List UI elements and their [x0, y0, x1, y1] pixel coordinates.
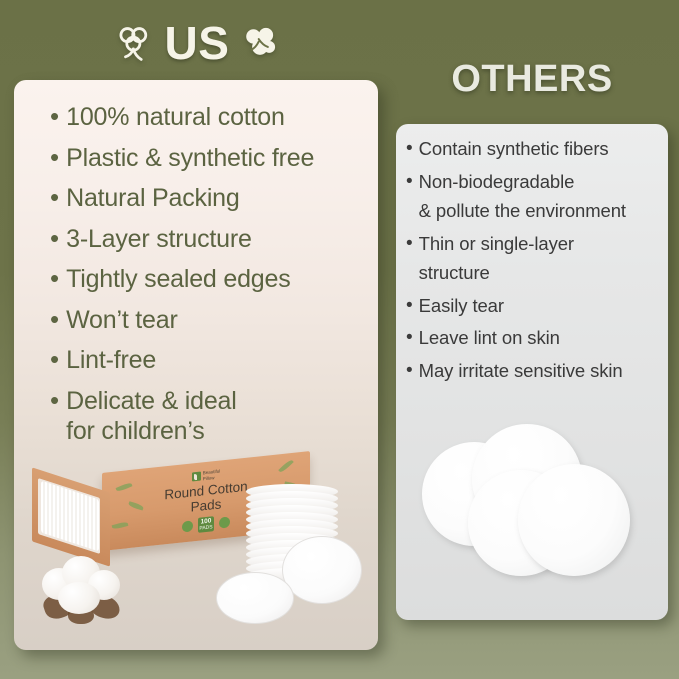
- cotton-pad: [518, 464, 630, 576]
- list-item-label: Leave lint on skin: [419, 327, 560, 350]
- cotton-boll-outline-icon: [113, 22, 155, 64]
- us-header: US: [14, 12, 380, 74]
- brand-name: Beautiful Pillow: [203, 469, 221, 482]
- list-item-label: Non-biodegradable & pollute the environm…: [419, 171, 626, 223]
- list-item: • Leave lint on skin: [406, 327, 664, 350]
- bullet-icon: •: [50, 306, 59, 332]
- us-title: US: [165, 20, 230, 66]
- others-title: OTHERS: [451, 60, 612, 98]
- list-item-label-line1: Non-biodegradable: [419, 171, 575, 192]
- pad-count-label: PADS: [199, 525, 212, 532]
- list-item-label-line1: Thin or single-layer: [419, 233, 574, 254]
- list-item-label: 100% natural cotton: [66, 102, 285, 133]
- list-item-label: Contain synthetic fibers: [419, 138, 609, 161]
- eco-badge-icon: [219, 517, 230, 529]
- eco-badge-icon: [182, 521, 193, 533]
- list-item: • Contain synthetic fibers: [406, 138, 664, 161]
- list-item: • Plastic & synthetic free: [50, 143, 368, 174]
- list-item: • Tightly sealed edges: [50, 264, 368, 295]
- others-header: OTHERS: [396, 52, 668, 106]
- bullet-icon: •: [406, 234, 413, 253]
- others-drawback-list: • Contain synthetic fibers • Non-biodegr…: [406, 138, 664, 393]
- list-item-label: May irritate sensitive skin: [419, 360, 623, 383]
- bullet-icon: •: [406, 328, 413, 347]
- brand-mark-icon: [192, 472, 201, 482]
- bullet-icon: •: [50, 103, 59, 129]
- us-benefit-list: • 100% natural cotton • Plastic & synthe…: [50, 102, 368, 457]
- bullet-icon: •: [406, 296, 413, 315]
- list-item: • Non-biodegradable & pollute the enviro…: [406, 171, 664, 223]
- bullet-icon: •: [50, 265, 59, 291]
- us-product-image: Beautiful Pillow Round Cotton Pads 100 P…: [14, 440, 378, 650]
- list-item-label: 3-Layer structure: [66, 224, 252, 255]
- list-item: • Natural Packing: [50, 183, 368, 214]
- brand-name-line2: Pillow: [203, 474, 221, 481]
- list-item-label: Delicate & ideal for children’s: [66, 386, 237, 447]
- bullet-icon: •: [50, 346, 59, 372]
- pad-count-badge: 100 PADS: [198, 517, 214, 534]
- cotton-boll-photo: [40, 552, 126, 626]
- list-item-label: Plastic & synthetic free: [66, 143, 314, 174]
- list-item: • 3-Layer structure: [50, 224, 368, 255]
- cotton-pads-stack: [232, 484, 362, 634]
- cotton-pad: [282, 536, 362, 604]
- list-item-label: Won’t tear: [66, 305, 177, 336]
- list-item-label: Lint-free: [66, 345, 156, 376]
- bullet-icon: •: [50, 184, 59, 210]
- bullet-icon: •: [50, 387, 59, 413]
- bullet-icon: •: [406, 172, 413, 191]
- list-item-label: Natural Packing: [66, 183, 239, 214]
- list-item: • 100% natural cotton: [50, 102, 368, 133]
- list-item-label-line2: structure: [419, 262, 574, 285]
- list-item: • Won’t tear: [50, 305, 368, 336]
- others-card: • Contain synthetic fibers • Non-biodegr…: [396, 124, 668, 620]
- cotton-pad: [216, 572, 294, 624]
- list-item-label: Tightly sealed edges: [66, 264, 290, 295]
- list-item: • Delicate & ideal for children’s: [50, 386, 368, 447]
- comparison-infographic: US OTHERS • 100% natural cotton •: [0, 0, 679, 679]
- list-item: • Easily tear: [406, 295, 664, 318]
- bullet-icon: •: [406, 361, 413, 380]
- list-item-label-line2: & pollute the environment: [419, 200, 626, 223]
- list-item: • Lint-free: [50, 345, 368, 376]
- boll-puff: [58, 582, 100, 614]
- list-item-label-line1: Delicate & ideal: [66, 387, 237, 415]
- others-product-image: [416, 412, 648, 602]
- bullet-icon: •: [50, 225, 59, 251]
- list-item-label: Easily tear: [419, 295, 504, 318]
- list-item: • Thin or single-layer structure: [406, 233, 664, 285]
- bullet-icon: •: [406, 139, 413, 158]
- bullet-icon: •: [50, 144, 59, 170]
- us-card: • 100% natural cotton • Plastic & synthe…: [14, 80, 378, 650]
- list-item-label: Thin or single-layer structure: [419, 233, 574, 285]
- list-item: • May irritate sensitive skin: [406, 360, 664, 383]
- cotton-boll-filled-icon: [239, 22, 281, 64]
